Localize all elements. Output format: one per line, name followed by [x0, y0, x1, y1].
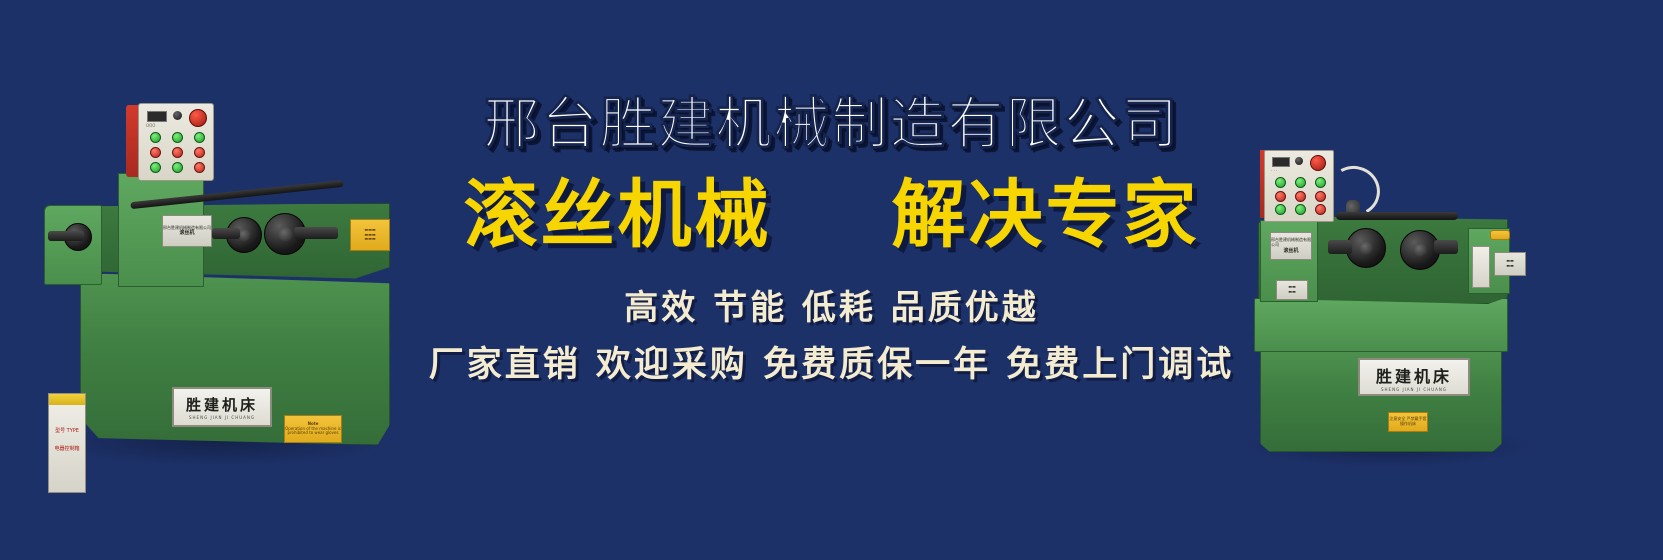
panel-button[interactable] [1315, 191, 1326, 202]
cabinet-label-top: 型号 TYPE [49, 428, 85, 434]
panel-button[interactable] [1295, 191, 1306, 202]
electrical-cabinet: 型号 TYPE 电器控制箱 [48, 393, 86, 493]
panel-button[interactable] [194, 162, 205, 173]
headline-right: 解决专家 [892, 177, 1200, 255]
headline-left: 滚丝机械 [464, 177, 772, 255]
panel-button[interactable] [172, 132, 183, 143]
spec-plate: 邢台胜建机械制造有限公司 滚丝机 [1270, 232, 1312, 260]
warning-label: Note Operation of the machine is prohibi… [284, 415, 342, 443]
spec-plate-model: 滚丝机 [179, 230, 194, 236]
spec-plate-title: 邢台胜建机械制造有限公司 [1271, 238, 1311, 248]
die-shaft [1328, 240, 1352, 254]
yellow-spec-label: ▬▬▬▬▬▬▬▬▬ [350, 219, 390, 251]
cabinet-label-body: 电器控制箱 [49, 446, 85, 452]
die-shaft [1434, 240, 1458, 254]
terminal-block [1490, 230, 1510, 240]
nameplate-chinese: 胜建机床 [186, 394, 258, 415]
promotional-banner: OOO 邢台胜建机械制造有限公司 滚丝机 ▬▬▬▬▬▬▬▬▬ [0, 0, 1663, 560]
nameplate-pinyin: SHENG JIAN JI CHUANG [1381, 387, 1447, 392]
selector-knob[interactable] [173, 111, 182, 120]
selector-knob[interactable] [1295, 157, 1303, 165]
nameplate-chinese: 胜建机床 [1376, 363, 1452, 387]
brand-nameplate: 胜建机床 SHENG JIAN JI CHUANG [1358, 358, 1470, 396]
panel-button[interactable] [1315, 177, 1326, 188]
panel-button[interactable] [1315, 204, 1326, 215]
rating-plate: ▬▬▬▬ [1494, 252, 1526, 276]
hydraulic-unit [1472, 246, 1490, 288]
panel-button[interactable] [150, 162, 161, 173]
panel-button[interactable] [1295, 177, 1306, 188]
panel-button[interactable] [1295, 204, 1306, 215]
headline-row: 滚丝机械 解决专家 [464, 177, 1200, 255]
panel-button[interactable] [172, 147, 183, 158]
subtitle-line-2: 厂家直销 欢迎采购 免费质保一年 免费上门调试 [429, 346, 1235, 385]
warning-label-text: 注意安全 严禁戴手套操作机床 [1389, 417, 1427, 426]
company-name: 邢台胜建机械制造有限公司 [484, 96, 1180, 155]
cabinet-top-strip [49, 394, 85, 405]
panel-button[interactable] [172, 162, 183, 173]
display-meter [147, 111, 167, 122]
control-panel[interactable]: · · · [1264, 150, 1334, 222]
machine-midbody [1254, 298, 1508, 352]
die-shaft [212, 228, 240, 239]
left-shaft [48, 231, 84, 241]
display-meter [1272, 157, 1290, 167]
panel-button[interactable] [150, 147, 161, 158]
panel-button[interactable] [194, 132, 205, 143]
warning-label: 注意安全 严禁戴手套操作机床 [1388, 412, 1428, 432]
spec-plate-model: 滚丝机 [1283, 248, 1298, 254]
die-shaft [294, 227, 338, 239]
brand-nameplate: 胜建机床 SHENG JIAN JI CHUANG [172, 387, 272, 427]
machine-image-left: OOO 邢台胜建机械制造有限公司 滚丝机 ▬▬▬▬▬▬▬▬▬ [32, 95, 404, 467]
panel-button[interactable] [1275, 191, 1286, 202]
panel-button[interactable] [1275, 177, 1286, 188]
machine-image-right: · · · 邢台胜建机械制造有限公司 滚丝机 ▬▬▬▬ [1168, 128, 1564, 458]
guide-bar [1336, 212, 1458, 220]
spec-plate: 邢台胜建机械制造有限公司 滚丝机 [162, 215, 212, 247]
emergency-stop-button[interactable] [189, 109, 207, 127]
panel-button[interactable] [1275, 204, 1286, 215]
subtitle-line-1: 高效 节能 低耗 品质优越 [624, 290, 1039, 327]
nameplate-pinyin: SHENG JIAN JI CHUANG [189, 415, 255, 420]
emergency-stop-button[interactable] [1310, 155, 1326, 171]
panel-button[interactable] [150, 132, 161, 143]
rolling-die-left [1346, 228, 1386, 268]
secondary-plate: ▬▬▬▬ [1276, 280, 1308, 300]
warning-label-text: Operation of the machine is prohibited t… [285, 427, 341, 436]
control-panel[interactable]: OOO [138, 103, 214, 181]
panel-button[interactable] [194, 147, 205, 158]
